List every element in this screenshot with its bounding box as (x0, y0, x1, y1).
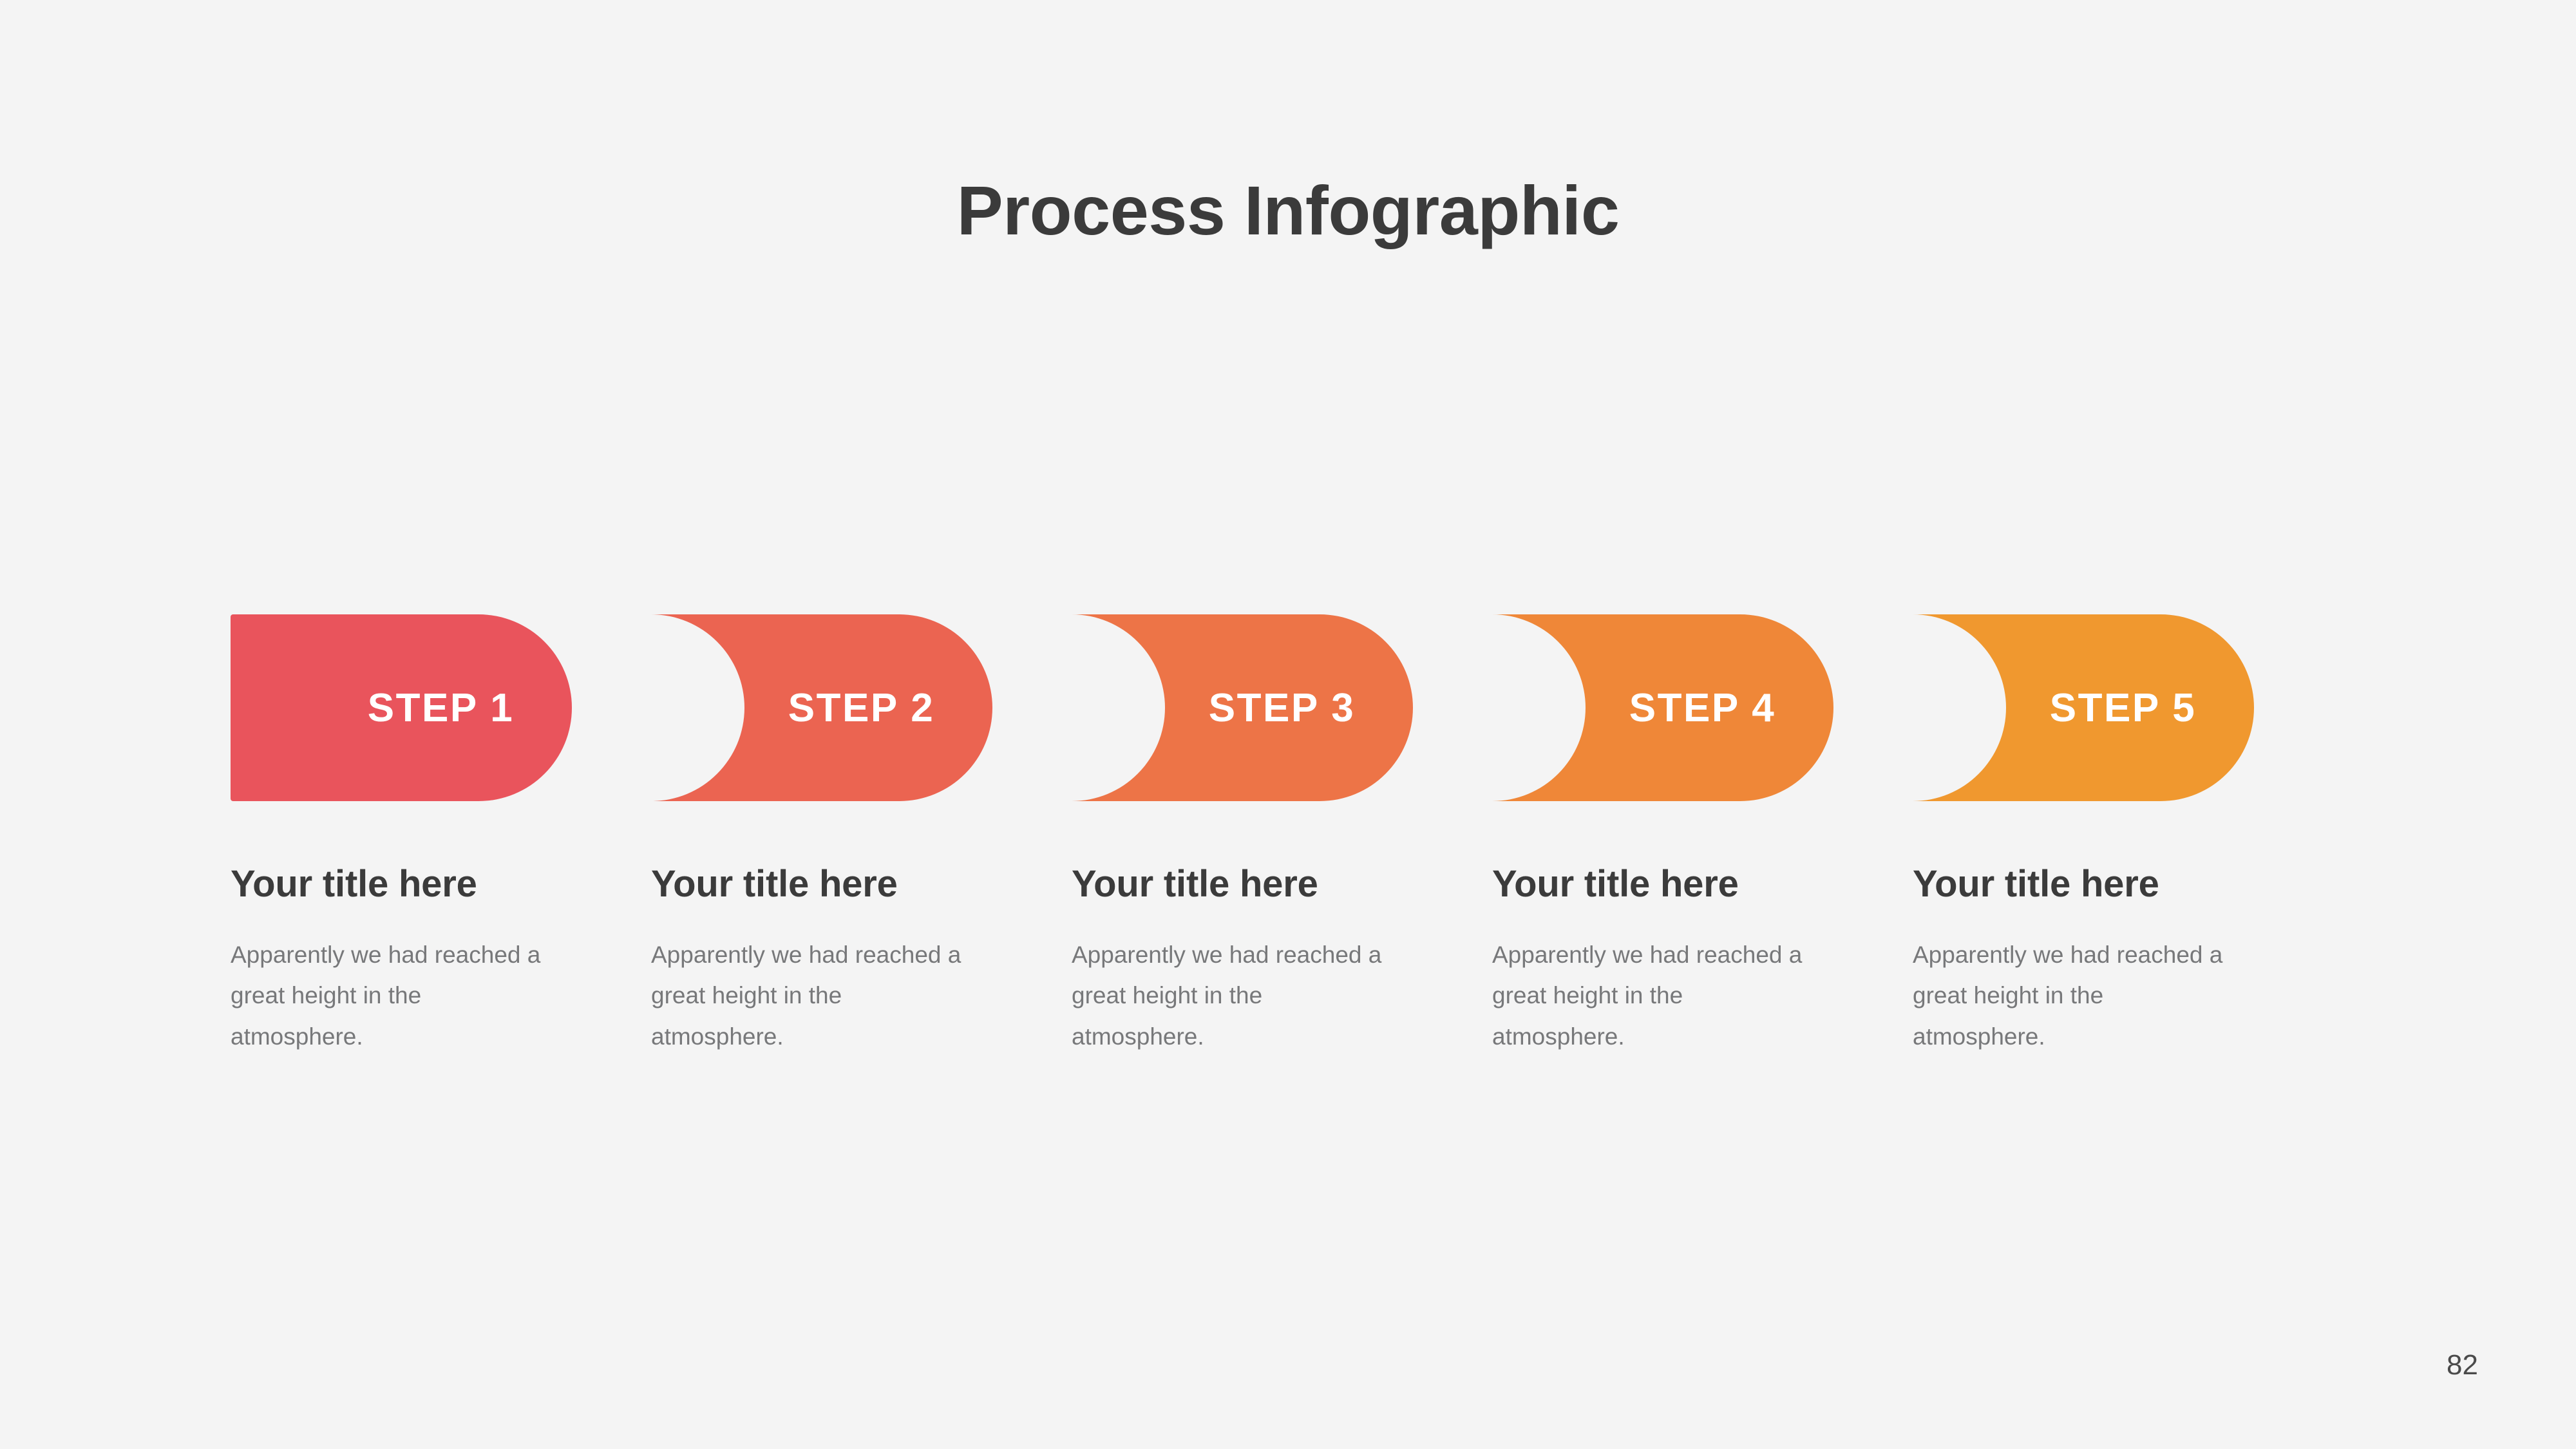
step-title-1: Your title here (231, 863, 565, 906)
step-body-3: Apparently we had reached a great height… (1072, 934, 1394, 1057)
step-shape-4[interactable] (1492, 614, 1833, 801)
step-shape-5[interactable] (1913, 614, 2254, 801)
step-body-1: Apparently we had reached a great height… (231, 934, 553, 1057)
step-body-2: Apparently we had reached a great height… (651, 934, 973, 1057)
process-step-band: STEP 1 STEP 2 STEP 3 STEP 4 STEP 5 (231, 614, 2357, 801)
step-title-4: Your title here (1492, 863, 1827, 906)
step-shape-2[interactable] (651, 614, 992, 801)
step-shape-3[interactable] (1072, 614, 1413, 801)
step-column-3: Your title here Apparently we had reache… (1072, 863, 1406, 1057)
step-column-2: Your title here Apparently we had reache… (651, 863, 986, 1057)
step-shape-1[interactable] (231, 614, 572, 801)
step-body-5: Apparently we had reached a great height… (1913, 934, 2235, 1057)
step-body-4: Apparently we had reached a great height… (1492, 934, 1814, 1057)
step-column-5: Your title here Apparently we had reache… (1913, 863, 2248, 1057)
step-column-4: Your title here Apparently we had reache… (1492, 863, 1827, 1057)
process-step-shapes (231, 614, 2357, 801)
page-number: 82 (2447, 1351, 2478, 1379)
step-column-1: Your title here Apparently we had reache… (231, 863, 565, 1057)
step-title-2: Your title here (651, 863, 986, 906)
step-title-3: Your title here (1072, 863, 1406, 906)
slide-root: Process Infographic STEP 1 STEP 2 STEP 3… (0, 0, 2576, 1449)
page-title: Process Infographic (0, 173, 2576, 249)
step-title-5: Your title here (1913, 863, 2248, 906)
step-description-columns: Your title here Apparently we had reache… (231, 863, 2388, 1133)
